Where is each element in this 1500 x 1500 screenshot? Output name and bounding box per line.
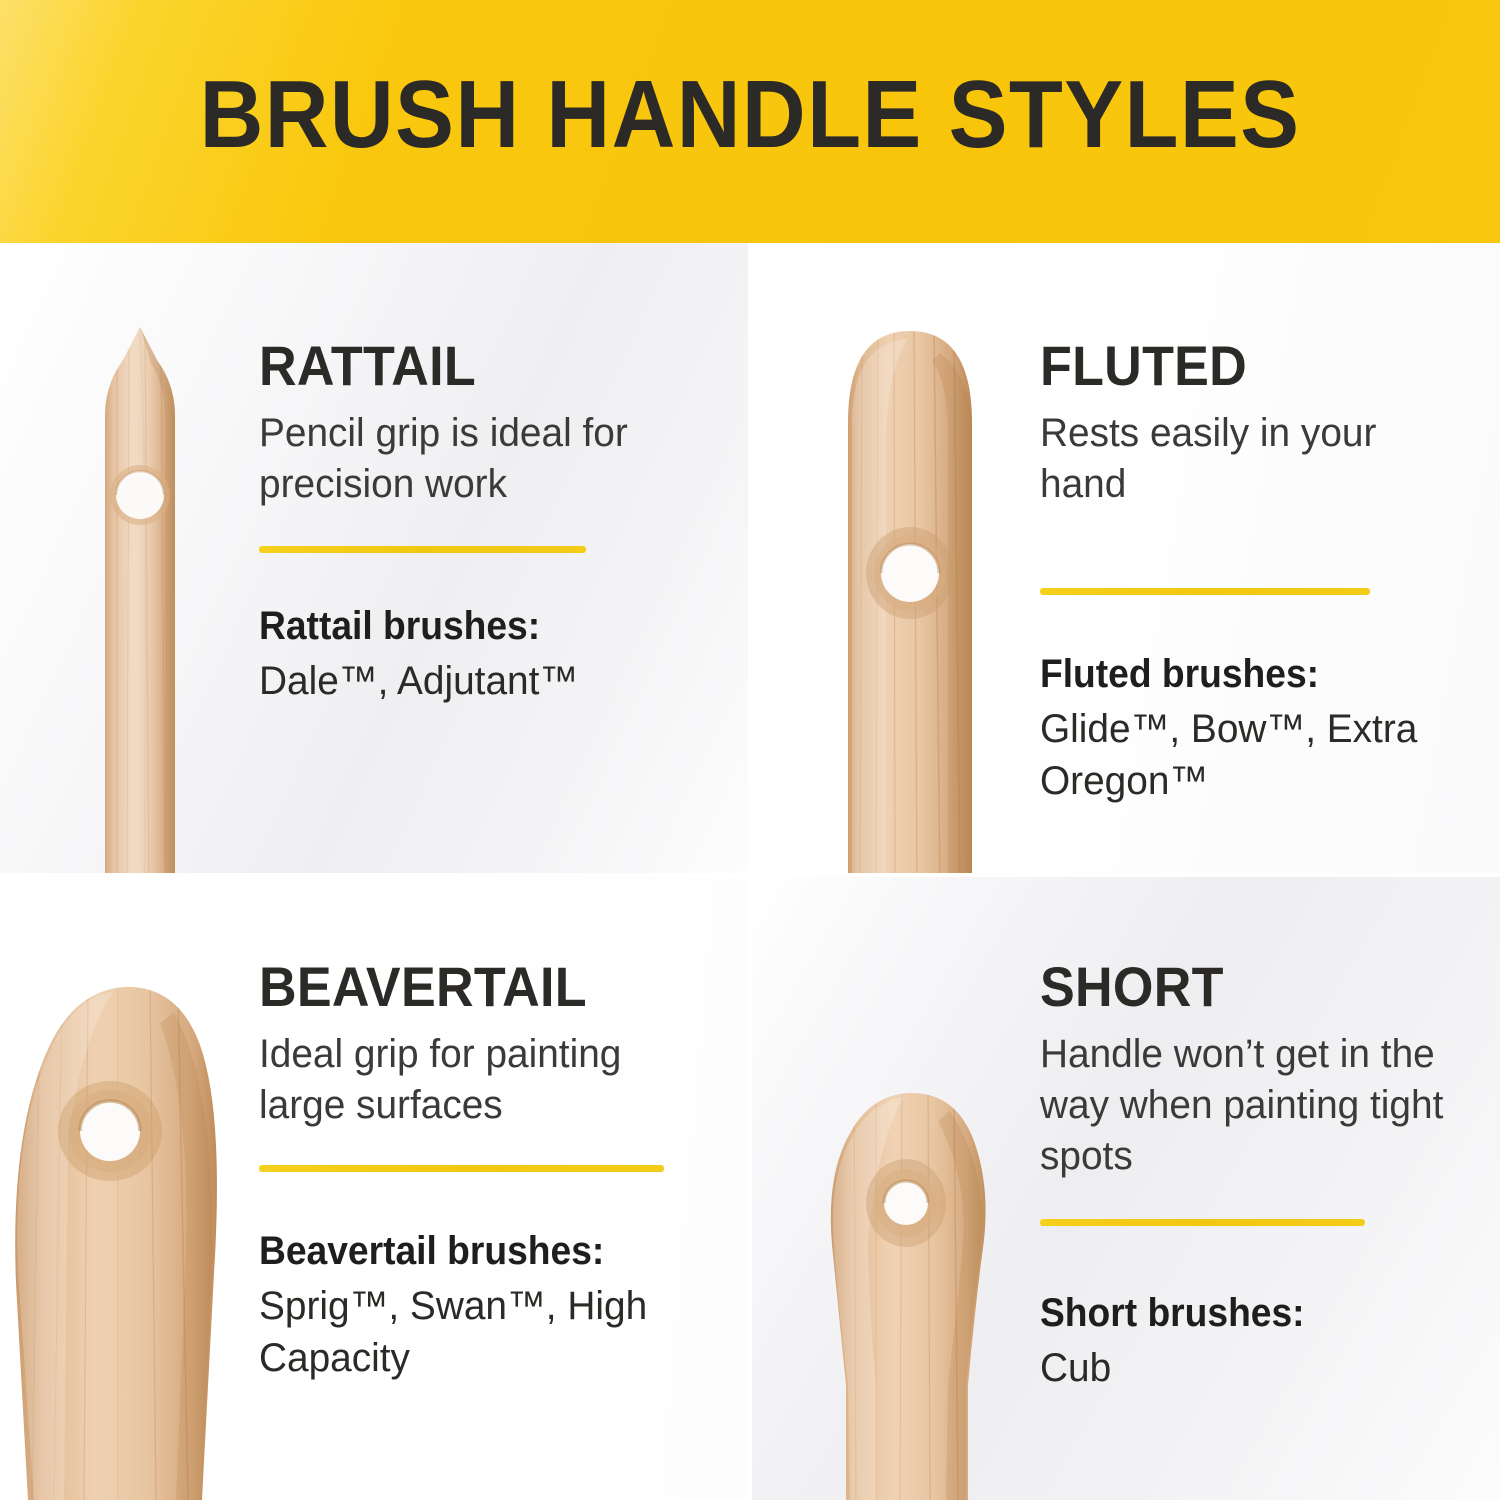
style-name-fluted: FLUTED [1040,338,1440,394]
panel-grid: RATTAIL Pencil grip is ideal for precisi… [0,243,1500,1500]
style-name-short: SHORT [1040,959,1440,1015]
beavertail-copy: BEAVERTAIL Ideal grip for painting large… [259,959,689,1384]
style-description-short: Handle won’t get in the way when paintin… [1040,1029,1457,1183]
yellow-divider [259,1165,664,1172]
brushes-list-short: Cub [1040,1342,1457,1394]
short-handle-icon [772,1055,1042,1500]
yellow-divider [1040,588,1370,595]
short-copy: SHORT Handle won’t get in the way when p… [1040,959,1470,1394]
page-title: BRUSH HANDLE STYLES [60,0,1440,243]
brushes-list-rattail: Dale™, Adjutant™ [259,655,666,707]
panel-fluted[interactable]: FLUTED Rests easily in your hand Fluted … [752,243,1500,873]
fluted-handle-icon [790,273,1030,873]
panel-short[interactable]: SHORT Handle won’t get in the way when p… [752,877,1500,1500]
brushes-label-beavertail: Beavertail brushes: [259,1230,659,1272]
style-name-rattail: RATTAIL [259,338,650,394]
yellow-divider [259,546,586,553]
panel-rattail[interactable]: RATTAIL Pencil grip is ideal for precisi… [0,243,748,873]
fluted-copy: FLUTED Rests easily in your hand Fluted … [1040,338,1470,807]
style-description-rattail: Pencil grip is ideal for precision work [259,408,666,510]
beavertail-handle-icon [0,953,258,1500]
style-name-beavertail: BEAVERTAIL [259,959,659,1015]
brushes-label-rattail: Rattail brushes: [259,605,650,647]
infographic-root: BRUSH HANDLE STYLES [0,0,1500,1500]
style-description-beavertail: Ideal grip for painting large surfaces [259,1029,676,1131]
brushes-label-short: Short brushes: [1040,1292,1440,1334]
panel-beavertail[interactable]: BEAVERTAIL Ideal grip for painting large… [0,877,748,1500]
rattail-copy: RATTAIL Pencil grip is ideal for precisi… [259,338,679,707]
header-band: BRUSH HANDLE STYLES [0,0,1500,243]
style-description-fluted: Rests easily in your hand [1040,408,1457,510]
yellow-divider [1040,1219,1365,1226]
brushes-list-fluted: Glide™, Bow™, Extra Oregon™ [1040,703,1457,807]
brushes-label-fluted: Fluted brushes: [1040,653,1440,695]
rattail-handle-icon [45,265,235,873]
brushes-list-beavertail: Sprig™, Swan™, High Capacity [259,1280,676,1384]
